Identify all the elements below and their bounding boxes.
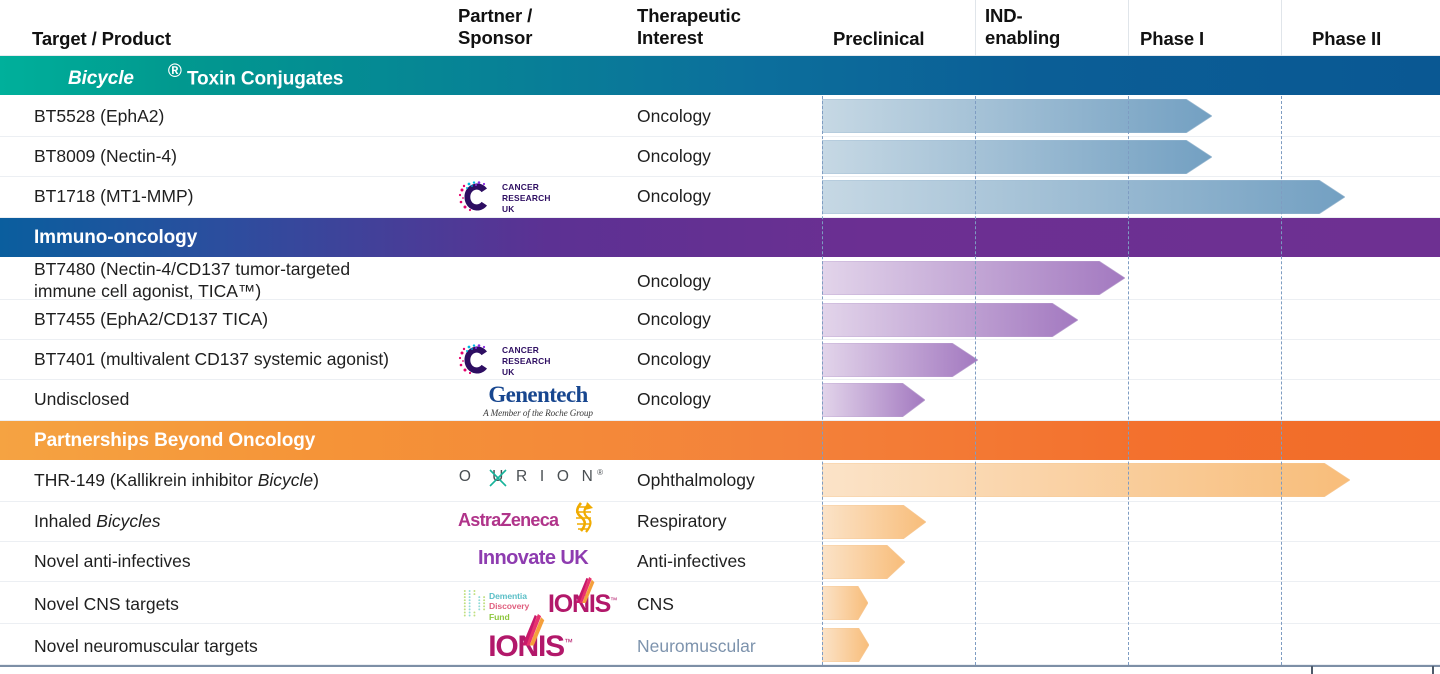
chart-baseline-axis <box>0 665 1440 667</box>
cruk-c-mark <box>458 181 498 213</box>
cell-therapeutic-interest: Neuromuscular <box>637 636 822 658</box>
column-header-therapeutic-interest: TherapeuticInterest <box>637 5 741 49</box>
pipeline-bar-partnerships-beyond-oncology-4 <box>822 628 869 662</box>
cell-target-product: Novel CNS targets <box>34 594 454 616</box>
ddf-d-icon <box>462 589 488 619</box>
cell-target-product: BT1718 (MT1-MMP) <box>34 186 454 208</box>
cell-therapeutic-interest: Oncology <box>637 349 822 371</box>
section-band-partnerships-beyond-oncology: Partnerships Beyond Oncology <box>0 421 1440 460</box>
section-title-immuno-oncology: Immuno-oncology <box>0 227 197 249</box>
cell-therapeutic-interest: Anti-infectives <box>637 551 822 573</box>
dementia-discovery-fund-ionis-logo: DementiaDiscoveryFundIONIS™ <box>462 589 632 619</box>
section-band-immuno-oncology: Immuno-oncology <box>0 218 1440 257</box>
gridline-2 <box>1128 96 1129 665</box>
header-divider-1 <box>1128 0 1129 56</box>
cell-target-product: BT7401 (multivalent CD137 systemic agoni… <box>34 349 454 371</box>
column-header-phase-ii: Phase II <box>1312 28 1381 50</box>
cell-target-product: Undisclosed <box>34 389 454 411</box>
column-header-preclinical: Preclinical <box>833 28 924 50</box>
ionis-wordmark: IONIS™ <box>548 590 616 618</box>
pipeline-bar-bicycle-toxin-conjugates-1 <box>822 140 1212 174</box>
pipeline-bar-immuno-oncology-2 <box>822 343 978 377</box>
oxurion-x-icon <box>487 467 509 489</box>
cell-therapeutic-interest: CNS <box>637 594 822 616</box>
cell-target-product: BT7455 (EphA2/CD137 TICA) <box>34 309 454 331</box>
genentech-logo: GenentechA Member of the Roche Group <box>462 383 614 419</box>
cell-target-product: BT5528 (EphA2) <box>34 106 454 128</box>
cell-target-product: BT7480 (Nectin-4/CD137 tumor-targetedimm… <box>34 259 454 303</box>
oxurion-logo: O U R I O N® <box>458 468 608 490</box>
cell-target-product: Inhaled Bicycles <box>34 511 454 533</box>
pipeline-bar-partnerships-beyond-oncology-2 <box>822 545 905 579</box>
astrazeneca-helix-icon <box>563 501 595 535</box>
innovate-uk-logo: Innovate UK <box>458 547 608 573</box>
cancer-research-uk-logo: CANCERRESEARCHUK <box>458 343 610 377</box>
pipeline-bar-immuno-oncology-1 <box>822 303 1078 337</box>
section-title-partnerships-beyond-oncology: Partnerships Beyond Oncology <box>0 430 315 452</box>
pipeline-bar-partnerships-beyond-oncology-1 <box>822 505 926 539</box>
cell-target-product: BT8009 (Nectin-4) <box>34 146 454 168</box>
astrazeneca-logo: AstraZeneca <box>458 506 608 534</box>
cell-therapeutic-interest: Ophthalmology <box>637 470 822 492</box>
pipeline-bar-partnerships-beyond-oncology-3 <box>822 586 868 620</box>
innovate-uk-wordmark: Innovate UK <box>478 547 588 569</box>
cruk-wordmark: CANCERRESEARCHUK <box>502 345 551 378</box>
cruk-wordmark: CANCERRESEARCHUK <box>502 182 551 215</box>
cell-therapeutic-interest: Oncology <box>637 389 822 411</box>
genentech-tagline: A Member of the Roche Group <box>462 408 614 418</box>
section-title-bicycle-toxin-conjugates: Bicycle® Toxin Conjugates <box>0 61 343 90</box>
cell-therapeutic-interest: Oncology <box>637 271 822 293</box>
pipeline-chart: Target / ProductPartner /SponsorTherapeu… <box>0 0 1440 673</box>
cell-therapeutic-interest: Oncology <box>637 186 822 208</box>
pipeline-bar-bicycle-toxin-conjugates-0 <box>822 99 1212 133</box>
pipeline-bar-bicycle-toxin-conjugates-2 <box>822 180 1345 214</box>
gridline-0 <box>822 96 823 665</box>
column-header-target: Target / Product <box>32 28 171 50</box>
cell-target-product: Novel neuromuscular targets <box>34 636 454 658</box>
cell-therapeutic-interest: Oncology <box>637 146 822 168</box>
ionis-logo: IONIS™ <box>455 630 605 660</box>
cancer-research-uk-logo: CANCERRESEARCHUK <box>458 180 610 214</box>
oxurion-wordmark: O U R I O N® <box>459 468 607 485</box>
cell-target-product: THR-149 (Kallikrein inhibitor Bicycle) <box>34 470 454 492</box>
cell-therapeutic-interest: Oncology <box>637 309 822 331</box>
column-header-phase-i: Phase I <box>1140 28 1204 50</box>
cruk-c-mark <box>458 344 498 376</box>
header-divider-2 <box>1281 0 1282 56</box>
gridline-3 <box>1281 96 1282 665</box>
pipeline-bar-partnerships-beyond-oncology-0 <box>822 463 1350 497</box>
cell-therapeutic-interest: Respiratory <box>637 511 822 533</box>
astrazeneca-wordmark: AstraZeneca <box>458 510 558 531</box>
cell-therapeutic-interest: Oncology <box>637 106 822 128</box>
genentech-wordmark: Genentech <box>462 383 614 406</box>
gridline-1 <box>975 96 976 665</box>
ionis-logo: IONIS™ <box>548 590 616 619</box>
section-band-bicycle-toxin-conjugates: Bicycle® Toxin Conjugates <box>0 56 1440 95</box>
pipeline-bar-immuno-oncology-3 <box>822 383 925 417</box>
header-divider-0 <box>975 0 976 56</box>
cell-target-product: Novel anti-infectives <box>34 551 454 573</box>
pipeline-bar-immuno-oncology-0 <box>822 261 1125 295</box>
column-header-row: Target / ProductPartner /SponsorTherapeu… <box>0 0 1440 56</box>
column-header-partner: Partner /Sponsor <box>458 5 532 49</box>
ionis-wordmark: IONIS™ <box>488 630 572 663</box>
column-header-ind-enabling: IND-enabling <box>985 5 1060 49</box>
